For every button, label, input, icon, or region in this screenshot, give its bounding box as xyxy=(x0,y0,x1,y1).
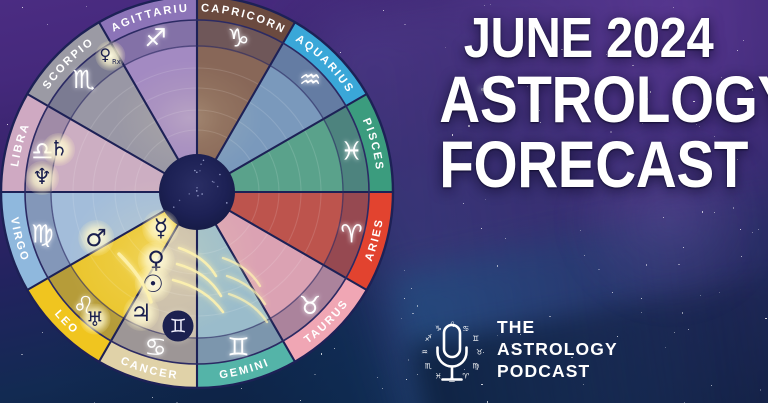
logo-zodiac-glyph: ♓ xyxy=(435,372,442,381)
logo-line-3: PODCAST xyxy=(497,360,618,382)
podcast-logo: ♌♋♊♉♍♈♎♓♏♒♐♑ THE ASTROLOGY PODCAST xyxy=(420,303,620,395)
headline-line-3: FORECAST xyxy=(439,131,737,197)
planet-glyph: ♆ xyxy=(32,165,52,190)
scorpio-icon: ♏ xyxy=(73,65,95,94)
logo-zodiac-glyph: ♋ xyxy=(462,324,469,333)
wheel-hub xyxy=(159,154,235,230)
capricorn-icon: ♑ xyxy=(227,23,249,52)
microphone-icon: ♌♋♊♉♍♈♎♓♏♒♐♑ xyxy=(420,307,484,391)
planet-glyph: ♄ xyxy=(50,137,69,161)
logo-wordmark: THE ASTROLOGY PODCAST xyxy=(497,316,618,382)
new-moon-sign-glyph: ♊ xyxy=(169,315,186,337)
logo-zodiac-glyph: ♈ xyxy=(462,372,469,381)
logo-line-2: ASTROLOGY xyxy=(497,338,618,360)
pisces-icon: ♓ xyxy=(340,137,362,166)
virgo-icon: ♍ xyxy=(31,219,53,248)
cancer-icon: ♋ xyxy=(144,333,166,362)
headline-line-2: ASTROLOGY xyxy=(439,67,737,131)
planet-glyph: ♅ xyxy=(86,307,104,331)
logo-zodiac-glyph: ♍ xyxy=(472,361,479,370)
planet-glyph: ♃ xyxy=(130,299,152,327)
planet-glyph: ♀ xyxy=(99,45,111,64)
saturn-icon: ♄ xyxy=(50,139,69,160)
sagittarius-icon: ♐ xyxy=(144,23,166,52)
logo-zodiac-glyph: ♒ xyxy=(421,348,428,357)
logo-zodiac-glyph: ♌ xyxy=(449,320,456,329)
venus-icon: ♀ xyxy=(147,248,165,272)
retrograde-marker: Rx xyxy=(112,57,121,65)
uranus-icon: ♅ xyxy=(86,309,104,329)
logo-zodiac-glyph: ♊ xyxy=(472,334,479,343)
planet-glyph: ☿ xyxy=(154,214,169,242)
taurus-icon: ♉ xyxy=(299,291,321,320)
zodiac-wheel: CAPRICORNAQUARIUSPISCESARIESTAURUSGEMINI… xyxy=(1,0,393,388)
new-moon-icon: ♊ xyxy=(163,311,194,342)
gemini-icon: ♊ xyxy=(227,333,249,362)
headline-line-1: JUNE 2024 xyxy=(439,9,737,67)
logo-line-1: THE xyxy=(497,316,618,338)
logo-zodiac-glyph: ♐ xyxy=(425,334,432,343)
aquarius-icon: ♒ xyxy=(299,65,321,94)
logo-zodiac-glyph: ♎ xyxy=(449,375,456,384)
jupiter-icon: ♃ xyxy=(130,301,152,325)
logo-zodiac-glyph: ♏ xyxy=(425,361,432,370)
logo-zodiac-glyph: ♉ xyxy=(476,348,483,357)
neptune-icon: ♆ xyxy=(32,167,52,189)
sun-icon: ☉ xyxy=(142,272,164,296)
planet-glyph: ☉ xyxy=(142,270,164,298)
venus-retrograde-icon: ♀Rx xyxy=(99,47,120,65)
logo-zodiac-glyph: ♑ xyxy=(435,324,442,333)
mercury-icon: ☿ xyxy=(154,216,169,240)
headline-block: JUNE 2024 ASTROLOGY FORECAST xyxy=(415,9,762,197)
mars-icon: ♂ xyxy=(85,226,107,250)
graphic-canvas: CAPRICORNAQUARIUSPISCESARIESTAURUSGEMINI… xyxy=(0,0,768,403)
aries-icon: ♈ xyxy=(340,219,362,248)
planet-glyph: ♂ xyxy=(85,224,107,252)
